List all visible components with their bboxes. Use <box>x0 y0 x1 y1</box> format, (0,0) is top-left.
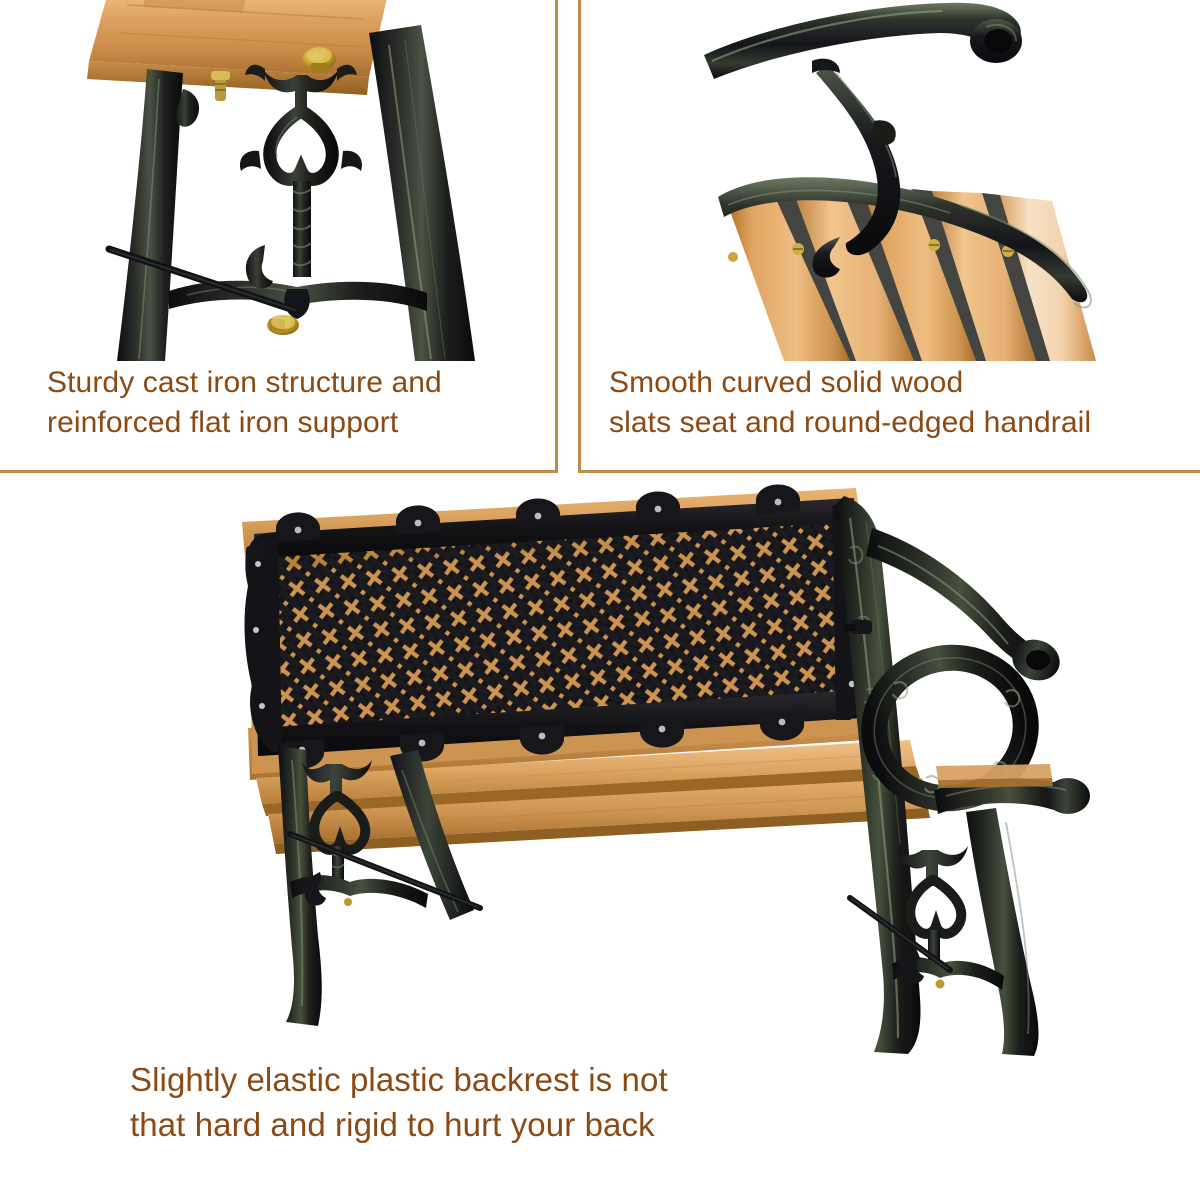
caption-line: Smooth curved solid wood <box>609 363 1187 403</box>
brass-screw <box>928 239 940 251</box>
caption-line: that hard and rigid to hurt your back <box>130 1103 990 1148</box>
panel-right-caption: Smooth curved solid wood slats seat and … <box>581 363 1200 470</box>
cast-iron-leg-photo <box>0 0 555 361</box>
caption-line: slats seat and round-edged handrail <box>609 403 1187 443</box>
wood-plank <box>87 0 389 95</box>
caption-line: Sturdy cast iron structure and <box>47 363 537 403</box>
hero-caption: Slightly elastic plastic backrest is not… <box>130 1058 990 1147</box>
caption-line: Slightly elastic plastic backrest is not <box>130 1058 990 1103</box>
backrest-connector-bolt-left <box>246 546 266 559</box>
feature-panel-wood-slats-handrail: Smooth curved solid wood slats seat and … <box>578 0 1200 473</box>
armrest-wood-slat <box>936 764 1052 780</box>
brass-screw <box>792 243 804 255</box>
panel-left-caption: Sturdy cast iron structure and reinforce… <box>0 363 555 470</box>
brass-screw <box>728 252 738 262</box>
brass-bolt-lower <box>267 315 299 335</box>
infographic-canvas: Sturdy cast iron structure and reinforce… <box>0 0 1200 1200</box>
twisted-column <box>293 181 311 277</box>
wood-slats-group <box>728 189 1096 361</box>
handrail-slats-photo <box>581 0 1200 361</box>
feature-panel-cast-iron-structure: Sturdy cast iron structure and reinforce… <box>0 0 558 473</box>
main-bench-photo <box>150 478 1090 1058</box>
caption-line: reinforced flat iron support <box>47 403 537 443</box>
